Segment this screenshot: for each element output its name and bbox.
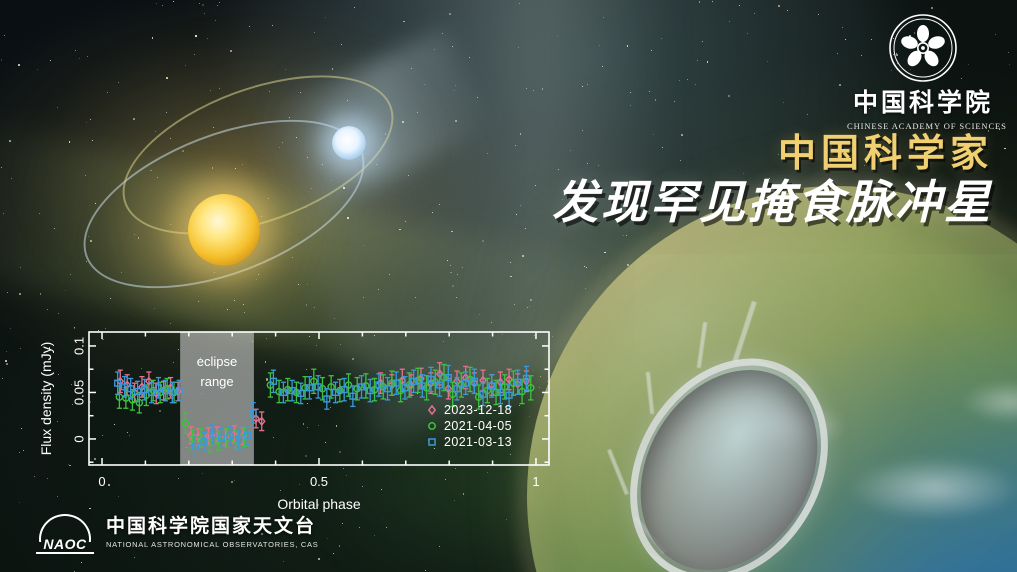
cas-circular-emblem-icon [887,12,959,84]
y-axis-tick-label: 0 [72,435,87,442]
legend-label: 2021-04-05 [444,419,512,433]
naoc-name-en: NATIONAL ASTRONOMICAL OBSERVATORIES, CAS [106,540,319,549]
y-axis-title: Flux density (mJy) [38,342,54,456]
binary-star-illustration [70,70,400,320]
legend-item: 2021-03-13 [429,435,512,449]
eclipse-range-label: eclipse [197,354,237,369]
y-axis-tick-label: 0.05 [72,380,87,405]
naoc-underline [36,552,94,554]
naoc-acronym: NAOC [36,536,94,552]
chart-svg: eclipserange00.51Orbital phase00.050.1Fl… [0,318,576,518]
blue-white-pulsar [332,126,366,160]
poster-canvas: 中国科学院 CHINESE ACADEMY OF SCIENCES 中国科学家 … [0,0,1017,572]
headline-line-1: 中国科学家 [552,134,993,174]
naoc-dish-arc-icon: NAOC [36,512,94,554]
y-axis-tick-label: 0.1 [72,337,87,355]
headline-block: 中国科学家 发现罕见掩食脉冲星 [552,134,993,228]
x-axis-tick-label: 1 [532,474,539,489]
yellow-companion-star [188,194,260,266]
legend-item: 2021-04-05 [429,419,512,433]
cas-name-en: CHINESE ACADEMY OF SCIENCES [847,121,999,131]
x-axis-tick-label: 0 [98,474,105,489]
cas-name-cn: 中国科学院 [847,90,999,118]
x-axis-title: Orbital phase [277,496,360,512]
naoc-name-cn: 中国科学院国家天文台 [106,517,319,538]
legend-label: 2023-12-18 [444,403,512,417]
cas-logo: 中国科学院 CHINESE ACADEMY OF SCIENCES [847,12,999,131]
x-axis-tick-label: 0.5 [310,474,328,489]
naoc-logo: NAOC 中国科学院国家天文台 NATIONAL ASTRONOMICAL OB… [36,512,319,554]
headline-line-2: 发现罕见掩食脉冲星 [552,178,993,228]
eclipse-range-label: range [200,374,233,389]
legend-label: 2021-03-13 [444,435,512,449]
legend-item: 2023-12-18 [429,403,512,417]
flux-density-chart: eclipserange00.51Orbital phase00.050.1Fl… [0,318,576,518]
